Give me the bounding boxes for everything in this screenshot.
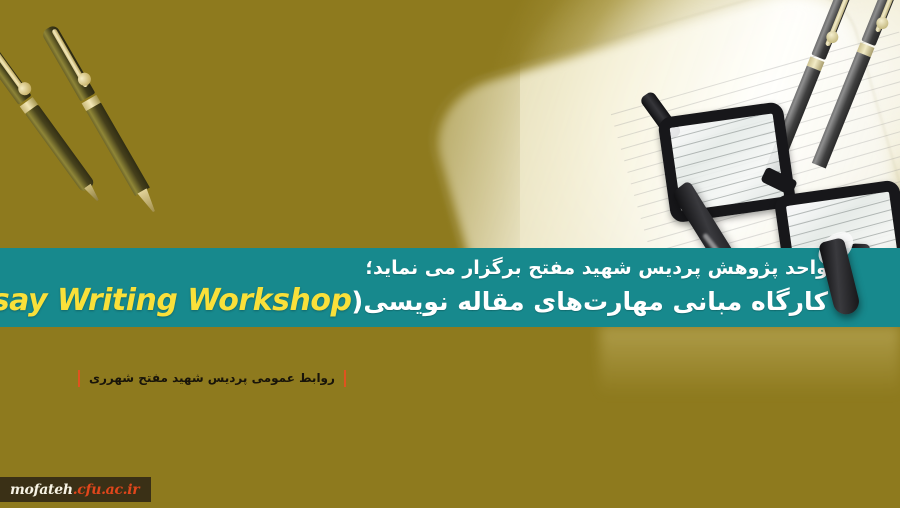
background-bottom-sheen xyxy=(600,326,900,396)
credit-bar-left xyxy=(78,370,80,387)
credit-line: روابط عمومی پردیس شهید مفتح شهرری xyxy=(78,365,346,391)
poster-canvas: واحد پژوهش پردیس شهید مفتح برگزار می نما… xyxy=(0,0,900,508)
paren-open: ( xyxy=(351,287,363,317)
fountain-pen-icon xyxy=(41,24,161,214)
announcement-banner: واحد پژوهش پردیس شهید مفتح برگزار می نما… xyxy=(0,248,900,327)
url-domain: .cfu.ac.ir xyxy=(73,482,140,498)
announcement-line-1: واحد پژوهش پردیس شهید مفتح برگزار می نما… xyxy=(0,253,828,283)
announcement-text-block: واحد پژوهش پردیس شهید مفتح برگزار می نما… xyxy=(0,248,900,327)
credit-text: روابط عمومی پردیس شهید مفتح شهرری xyxy=(89,371,335,385)
workshop-title-fa: کارگاه مبانی مهارت‌های مقاله نویسی xyxy=(363,287,828,316)
website-url-badge[interactable]: mofateh.cfu.ac.ir xyxy=(0,477,151,502)
credit-bar-right xyxy=(344,370,346,387)
announcement-line-2: کارگاه مبانی مهارت‌های مقاله نویسی(Essay… xyxy=(0,283,828,320)
pen-group-top-left xyxy=(18,12,258,227)
url-site-name: mofateh xyxy=(10,482,73,498)
workshop-title-en: Essay Writing Workshop xyxy=(0,283,351,319)
